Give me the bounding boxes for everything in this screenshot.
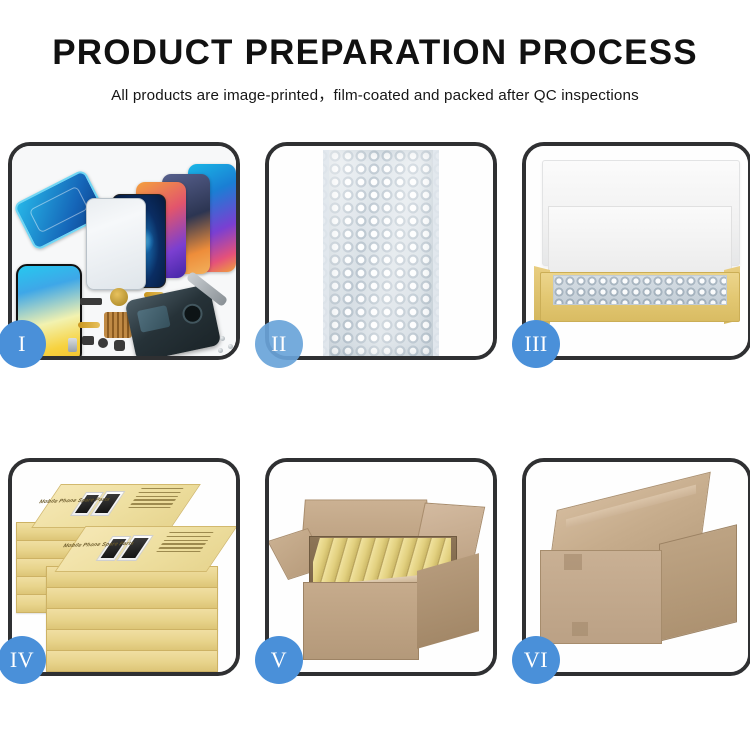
inner-box-foam-padding [548,206,732,274]
part-connector [80,298,102,305]
step-image-4: Mobile Phone Spare Parts Mobile Phone Sp… [12,462,236,672]
step-image-2 [269,146,493,356]
step-badge-4: IV [0,636,46,684]
step-image-3 [526,146,748,356]
stacked-box-front-2 [46,587,218,609]
carton-sealed-front [540,550,662,644]
bubble-wrap-sheen [329,150,433,356]
tempered-glass-protector [86,198,146,290]
step-image-6 [526,462,748,672]
part-flex-cable-c [78,322,100,328]
part-sim-tray [68,338,77,352]
bubble-wrap-image [323,150,439,356]
part-home-button [98,338,108,348]
carton-handle-tab-bottom [572,622,588,636]
inner-box-bubble-contents [553,275,727,305]
page-title: PRODUCT PREPARATION PROCESS [0,34,750,73]
step-badge-5: V [255,636,303,684]
step-badge-6: VI [512,636,560,684]
step-badge-3: III [512,320,560,368]
stacked-box-front-5 [46,650,218,672]
step-image-5 [269,462,493,672]
inner-box-body [540,272,740,322]
carton-front-panel [303,582,419,660]
products-collage-image [12,146,236,356]
stacked-boxes-image: Mobile Phone Spare Parts Mobile Phone Sp… [12,462,236,672]
step-badge-2: II [255,320,303,368]
step-card-3[interactable]: III [522,142,750,360]
carton-sealed-side [659,524,737,641]
step-card-5[interactable]: V [265,458,497,676]
part-camera-module [82,336,94,345]
screw-3 [218,348,223,353]
screw-2 [228,344,233,349]
step-card-2[interactable]: II [265,142,497,360]
step-image-1 [12,146,236,356]
part-speaker-coil [110,288,128,306]
part-vibrator [114,340,125,351]
carton-side-panel [417,553,479,649]
step-badge-1: I [0,320,46,368]
page-header: PRODUCT PREPARATION PROCESS All products… [0,0,750,105]
step-card-6[interactable]: VI [522,458,750,676]
process-steps-grid: I II III [8,142,750,676]
step-card-1[interactable]: I [8,142,240,360]
stacked-box-front-3 [46,608,218,630]
stacked-box-front-4 [46,629,218,651]
carton-handle-tab-top [564,554,582,570]
page-subtitle: All products are image-printed，film-coat… [0,83,750,105]
step-card-4[interactable]: Mobile Phone Spare Parts Mobile Phone Sp… [8,458,240,676]
screw-1 [220,336,225,341]
